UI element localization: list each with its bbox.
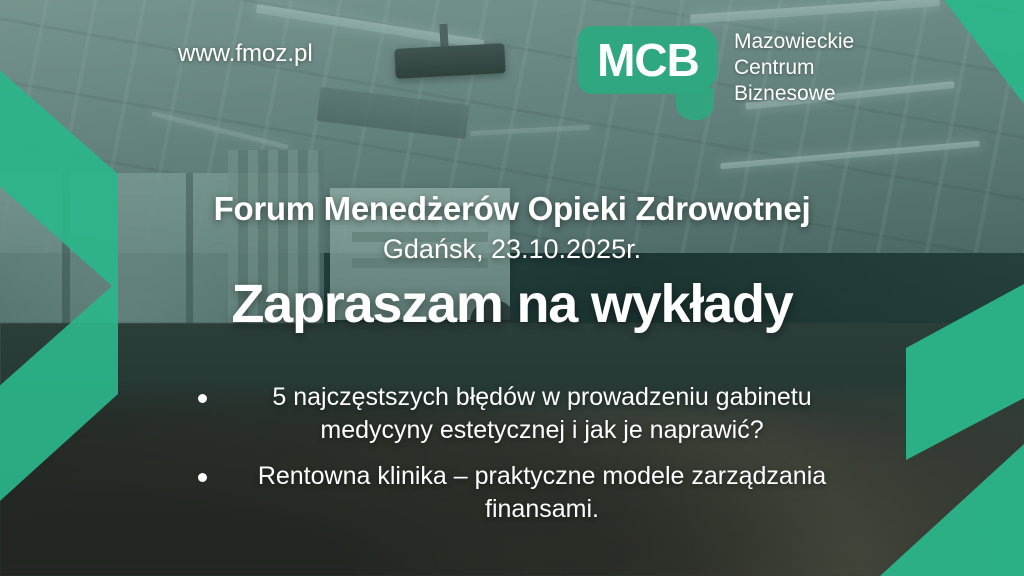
lecture-list-item: 5 najczęstszych błędów w prowadzeniu gab… (188, 381, 860, 448)
mcb-logo: MCB Mazowieckie Centrum Biznesowe (578, 26, 854, 107)
mcb-logo-wordmark: Mazowieckie Centrum Biznesowe (734, 26, 854, 107)
event-location-date: Gdańsk, 23.10.2025r. (0, 234, 1024, 265)
mcb-logo-line-2: Centrum (734, 55, 854, 81)
website-url: www.fmoz.pl (178, 40, 313, 68)
mcb-logo-line-3: Biznesowe (734, 81, 854, 107)
invitation-headline: Zapraszam na wykłady (0, 273, 1024, 335)
mcb-logo-mark: MCB (578, 26, 718, 94)
slide-content: Forum Menedżerów Opieki Zdrowotnej Gdańs… (0, 190, 1024, 538)
mcb-logo-line-1: Mazowieckie (734, 29, 854, 55)
lecture-list: 5 najczęstszych błędów w prowadzeniu gab… (188, 381, 860, 526)
mcb-logo-initials: MCB (578, 26, 718, 94)
lecture-list-item: Rentowna klinika – praktyczne modele zar… (188, 460, 860, 527)
presentation-slide: MCB Mazowieckie Centrum Biznesowe www.fm… (0, 0, 1024, 576)
event-title: Forum Menedżerów Opieki Zdrowotnej (0, 190, 1024, 228)
